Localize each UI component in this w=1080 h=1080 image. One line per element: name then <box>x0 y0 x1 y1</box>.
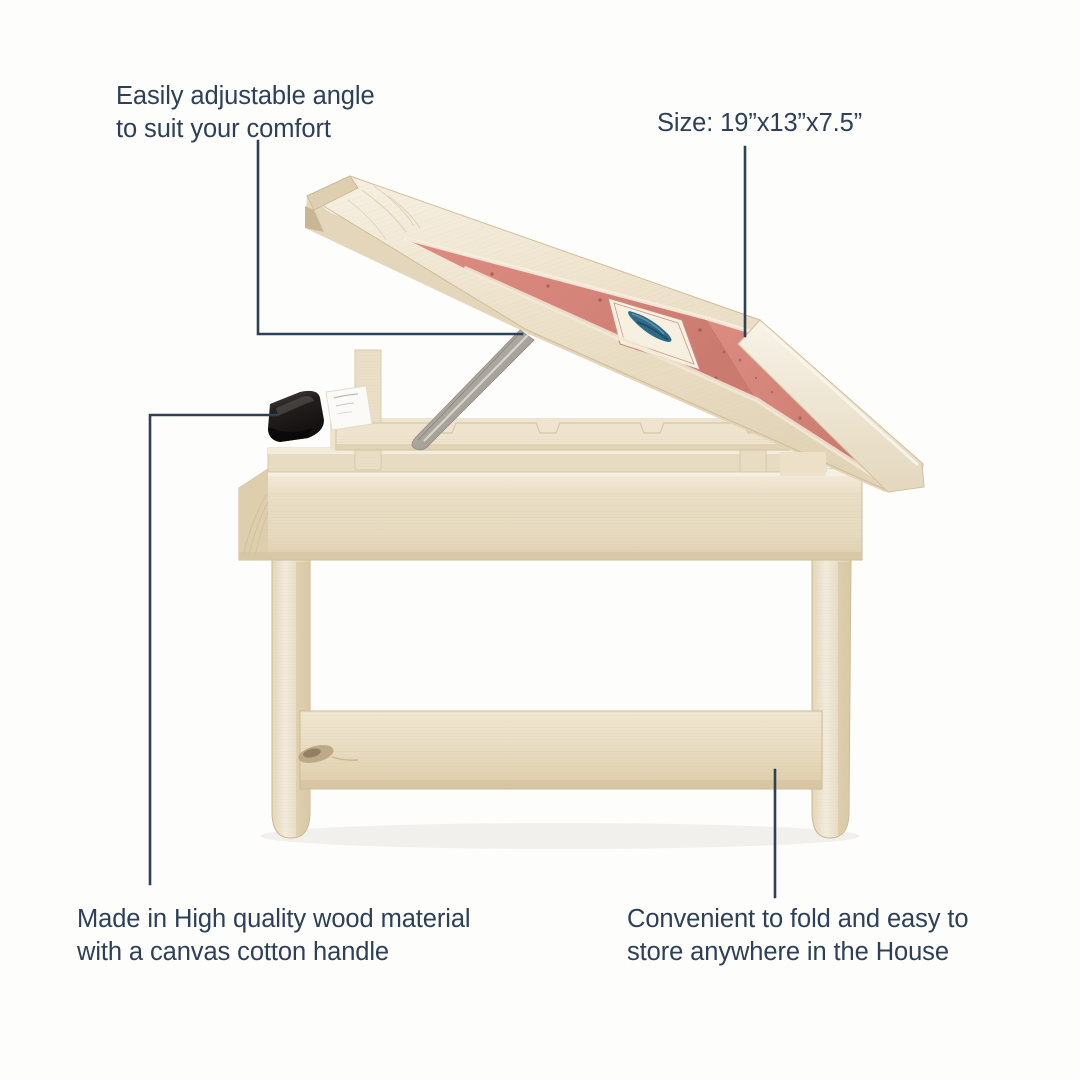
canvas-handle-tag <box>326 386 372 430</box>
right-leg <box>812 560 851 838</box>
rear-right-block <box>780 452 826 476</box>
apron <box>239 469 862 560</box>
notched-rail <box>336 423 790 450</box>
left-leg <box>272 560 310 838</box>
floor-shadow <box>260 823 860 849</box>
black-knob <box>268 391 324 442</box>
stretcher <box>297 711 822 789</box>
annotation-fold-and-store: Convenient to fold and easy to store any… <box>627 903 1037 970</box>
annotation-wood-material: Made in High quality wood material with … <box>77 903 547 970</box>
annotation-adjustable-angle: Easily adjustable angle to suit your com… <box>116 80 446 147</box>
product-feature-infographic: Easily adjustable angle to suit your com… <box>0 0 1080 1080</box>
annotation-size: Size: 19”x13”x7.5” <box>657 107 917 140</box>
